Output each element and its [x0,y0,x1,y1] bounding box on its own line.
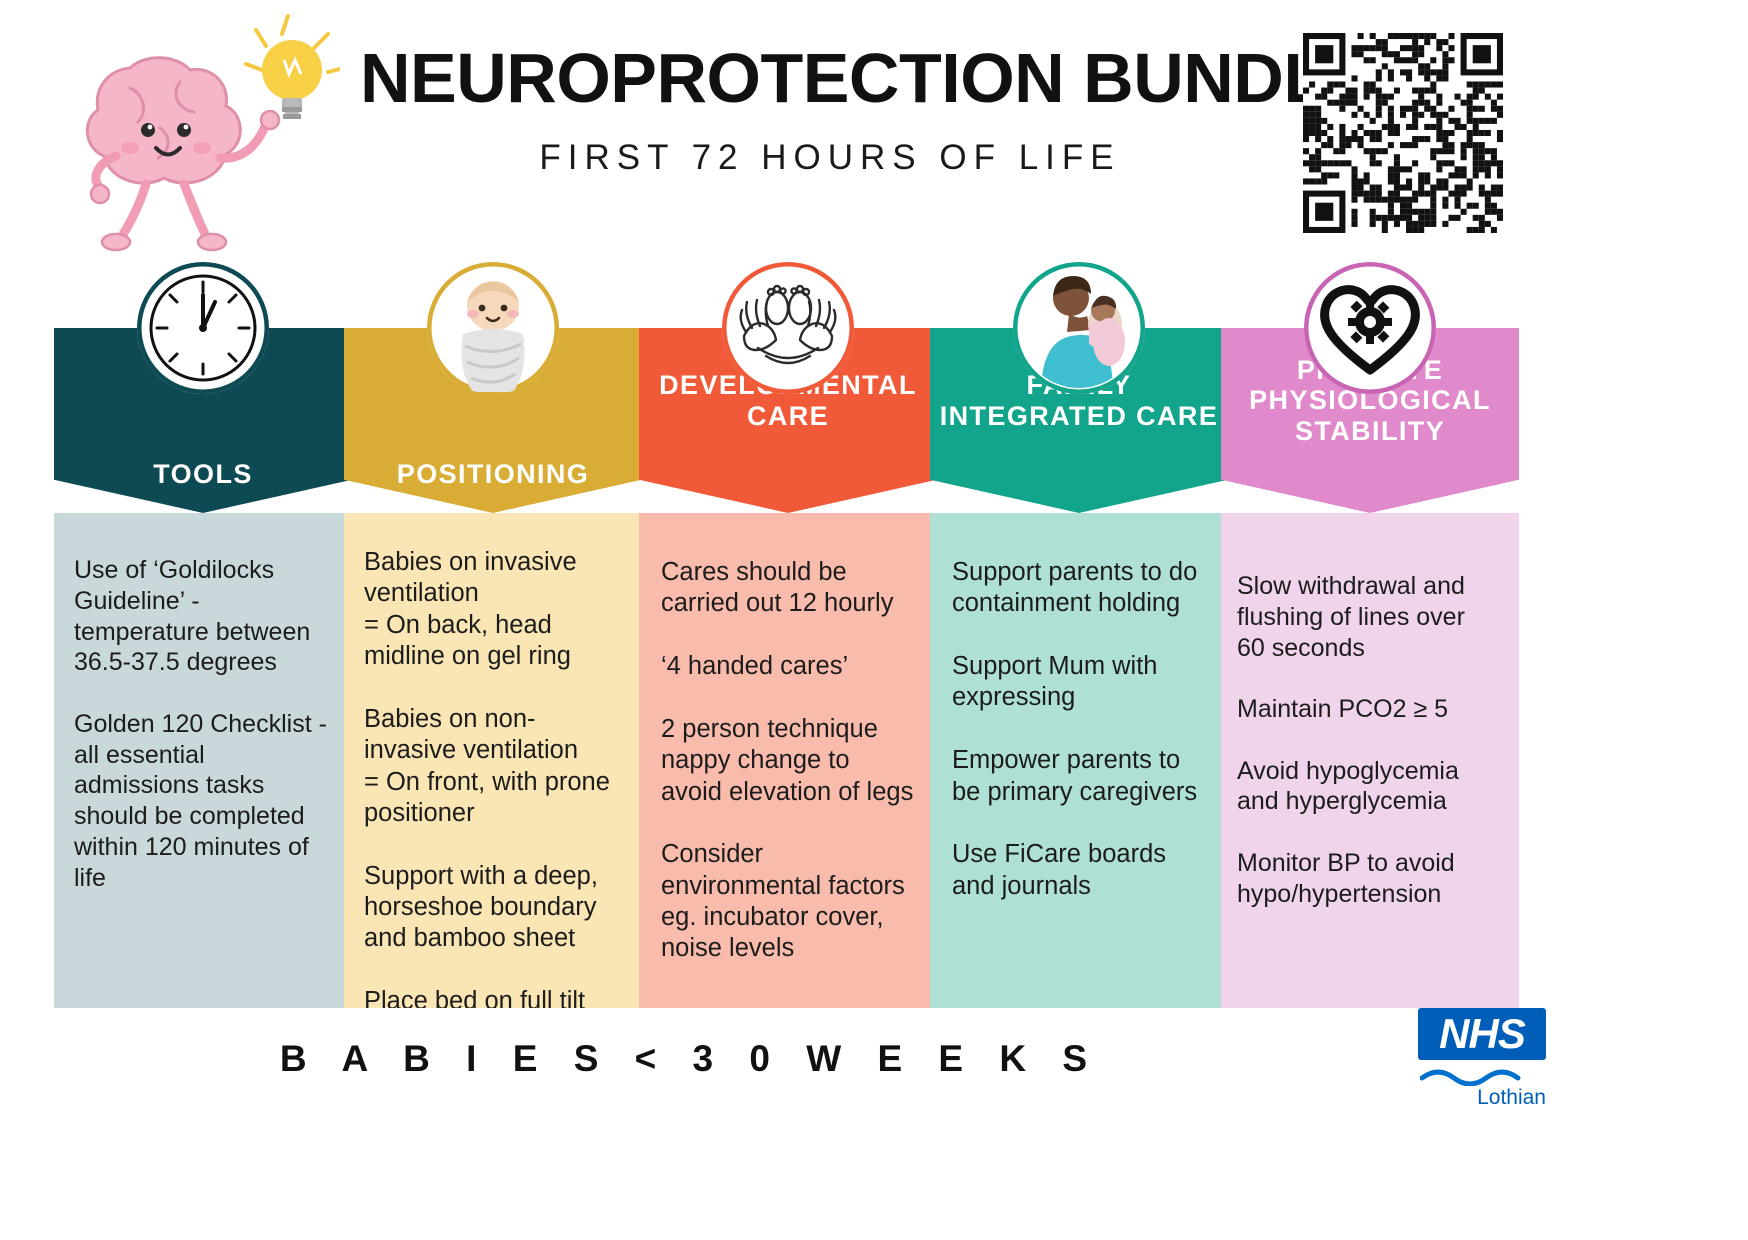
column-body-promote-physiological-stability: Slow withdrawal and flushing of lines ov… [1221,513,1519,1008]
page-subtitle: FIRST 72 HOURS OF LIFE [360,138,1300,178]
clock-icon [137,262,269,394]
nhs-logo-mark: NHS [1418,1008,1546,1060]
column-body-tools: Use of ‘Goldilocks Guideline’ - temperat… [54,513,352,1008]
page-title: NEUROPROTECTION BUNDLE [360,42,1300,116]
nhs-lothian-logo: NHS Lothian [1418,1008,1618,1113]
column-body-developmental-care: Cares should be carried out 12 hourly ‘4… [639,513,937,1008]
page-header: NEUROPROTECTION BUNDLE FIRST 72 HOURS OF… [0,0,1748,262]
nhs-logo-sub: Lothian [1418,1086,1546,1110]
column-title-tools: TOOLS [54,459,352,489]
qr-code-icon[interactable] [1303,33,1503,233]
swaddled-baby-icon [427,262,559,394]
hands-cradling-feet-icon [722,262,854,394]
footer-banner: B A B I E S < 3 0 W E E K S [0,1038,1380,1080]
column-body-family-integrated-care: Support parents to do containment holdin… [930,513,1228,1008]
column-title-positioning: POSITIONING [344,459,642,489]
heart-with-gear-icon [1304,262,1436,394]
title-block: NEUROPROTECTION BUNDLE FIRST 72 HOURS OF… [360,42,1300,178]
nhs-wave-icon [1420,1064,1544,1086]
brain-with-lightbulb-illustration [60,8,340,258]
parent-holding-baby-icon [1013,262,1145,394]
bundle-columns: TOOLS Use of ‘Go [0,262,1748,1022]
column-body-positioning: Babies on invasive ventilation = On back… [344,513,642,1008]
